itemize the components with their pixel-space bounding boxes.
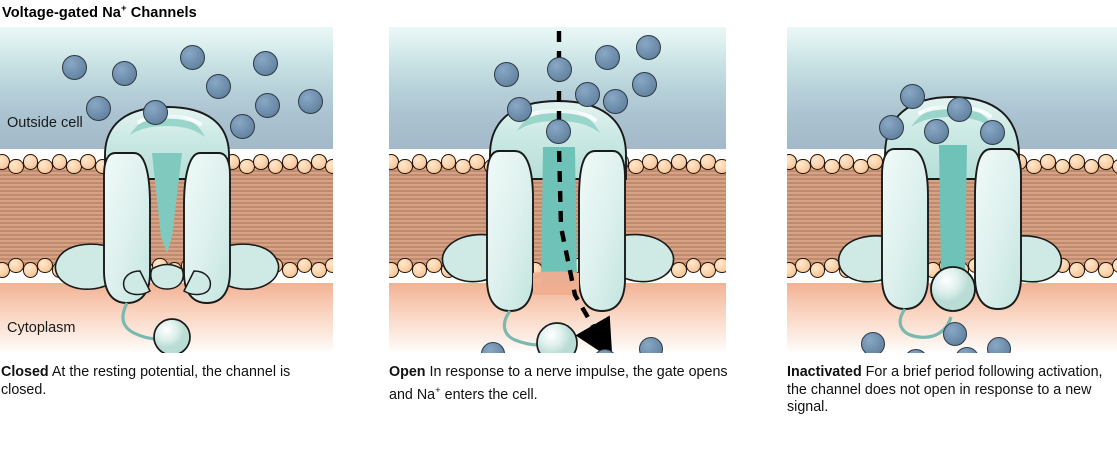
channel-subunit-right (975, 149, 1021, 309)
sodium-ion (143, 100, 168, 125)
channel-pore-closed (152, 153, 182, 253)
channel-subunit-left (487, 151, 533, 311)
sodium-ion (943, 322, 967, 346)
page-title: Voltage-gated Na+ Channels (2, 3, 197, 21)
sodium-ion (632, 72, 657, 97)
channel-subunit-left (882, 149, 928, 309)
sodium-ion (86, 96, 111, 121)
sodium-ion (206, 74, 231, 99)
caption-inactivated: Inactivated For a brief period following… (787, 364, 1117, 417)
inactivation-ball (154, 319, 190, 353)
channel-pore-plugged (939, 145, 967, 275)
sodium-ion (547, 57, 572, 82)
sodium-ion (603, 89, 628, 114)
sodium-ion (575, 82, 600, 107)
inactivation-tether (504, 311, 539, 345)
sodium-ion (595, 45, 620, 70)
sodium-ion (507, 97, 532, 122)
caption-closed: Closed At the resting potential, the cha… (1, 364, 331, 399)
sodium-ion (947, 97, 972, 122)
panel-closed: Outside cell Cytoplasm (0, 27, 333, 353)
sodium-ion (494, 62, 519, 87)
gate-center (151, 265, 183, 290)
channel-protein-inactivated (787, 27, 1117, 353)
sodium-ion (879, 115, 904, 140)
sodium-ion (62, 55, 87, 80)
inactivation-ball (931, 267, 975, 311)
sodium-ion (112, 61, 137, 86)
channel-protein-closed (0, 27, 333, 353)
title-text: Voltage-gated Na (2, 5, 121, 21)
sodium-ion (255, 93, 280, 118)
sodium-ion (861, 332, 885, 353)
channel-subunit-right (579, 151, 625, 311)
sodium-ion (298, 89, 323, 114)
caption-body-tail: enters the cell. (441, 386, 538, 402)
sodium-ion (636, 35, 661, 60)
panel-open (389, 27, 726, 353)
inactivation-tether (123, 303, 158, 339)
sodium-ion (924, 119, 949, 144)
title-tail: Channels (127, 5, 197, 21)
caption-state-label: Inactivated (787, 364, 862, 380)
sodium-ion (900, 84, 925, 109)
inactivation-ball (537, 323, 577, 353)
sodium-ion (253, 51, 278, 76)
panel-inactivated (787, 27, 1117, 353)
caption-state-label: Closed (1, 364, 49, 380)
sodium-ion (980, 120, 1005, 145)
sodium-ion (546, 119, 571, 144)
caption-open: Open In response to a nerve impulse, the… (389, 364, 729, 404)
sodium-ion (180, 45, 205, 70)
caption-state-label: Open (389, 364, 426, 380)
sodium-ion (230, 114, 255, 139)
